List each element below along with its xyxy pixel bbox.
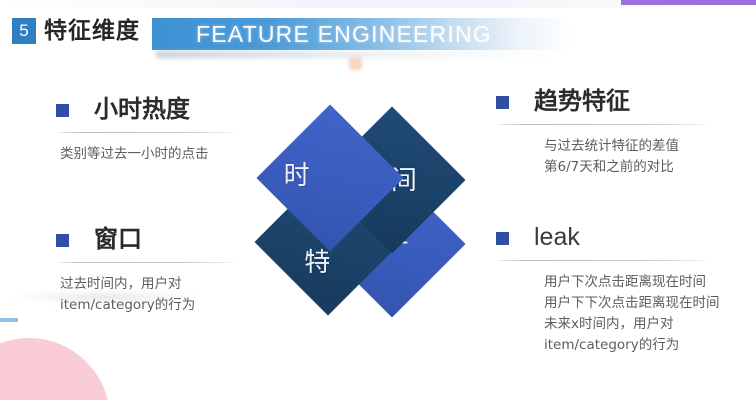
page-title: 特征维度 xyxy=(44,16,140,46)
title-divider xyxy=(58,132,234,133)
description-line: 用户下次点击距离现在时间 xyxy=(544,272,720,293)
feature-description: 类别等过去一小时的点击 xyxy=(60,144,209,165)
peach-dot-decoration xyxy=(349,57,362,70)
slide-canvas: 5 特征维度 FEATURE ENGINEERING 小时热度 类别等过去一小时… xyxy=(0,0,756,400)
bullet-square-icon xyxy=(56,104,69,117)
feature-title: 小时热度 xyxy=(94,94,190,124)
title-divider xyxy=(498,124,708,125)
pink-circle-decoration xyxy=(0,338,110,400)
description-line: 类别等过去一小时的点击 xyxy=(60,144,209,165)
diamond-glyph: 特 xyxy=(304,249,331,277)
description-line: 用户下下次点击距离现在时间 xyxy=(544,293,720,314)
diagram-shadow xyxy=(10,292,200,302)
bullet-square-icon xyxy=(496,96,509,109)
feature-description: 用户下次点击距离现在时间 用户下下次点击距离现在时间 未来x时间内，用户对 it… xyxy=(544,272,720,356)
title-divider xyxy=(58,262,234,263)
description-line: 未来x时间内，用户对 xyxy=(544,314,720,335)
bullet-square-icon xyxy=(496,232,509,245)
description-line: 与过去统计特征的差值 xyxy=(544,136,679,157)
header-english-title: FEATURE ENGINEERING xyxy=(196,21,492,48)
feature-title: leak xyxy=(534,222,580,252)
time-feature-diagram: 时 间 特 征 xyxy=(256,118,468,313)
purple-accent-bar xyxy=(621,0,756,5)
slide-header: 5 特征维度 FEATURE ENGINEERING xyxy=(0,12,756,58)
title-divider xyxy=(498,260,708,261)
feature-title: 趋势特征 xyxy=(534,86,630,116)
description-line: 第6/7天和之前的对比 xyxy=(544,157,679,178)
feature-description: 与过去统计特征的差值 第6/7天和之前的对比 xyxy=(544,136,679,178)
bullet-square-icon xyxy=(56,234,69,247)
section-number-badge: 5 xyxy=(12,18,36,44)
diamond-glyph: 时 xyxy=(284,162,311,190)
blue-tick-decoration xyxy=(0,318,18,322)
header-banner-shadow xyxy=(156,51,556,58)
description-line: item/category的行为 xyxy=(544,335,720,356)
feature-title: 窗口 xyxy=(94,224,142,254)
